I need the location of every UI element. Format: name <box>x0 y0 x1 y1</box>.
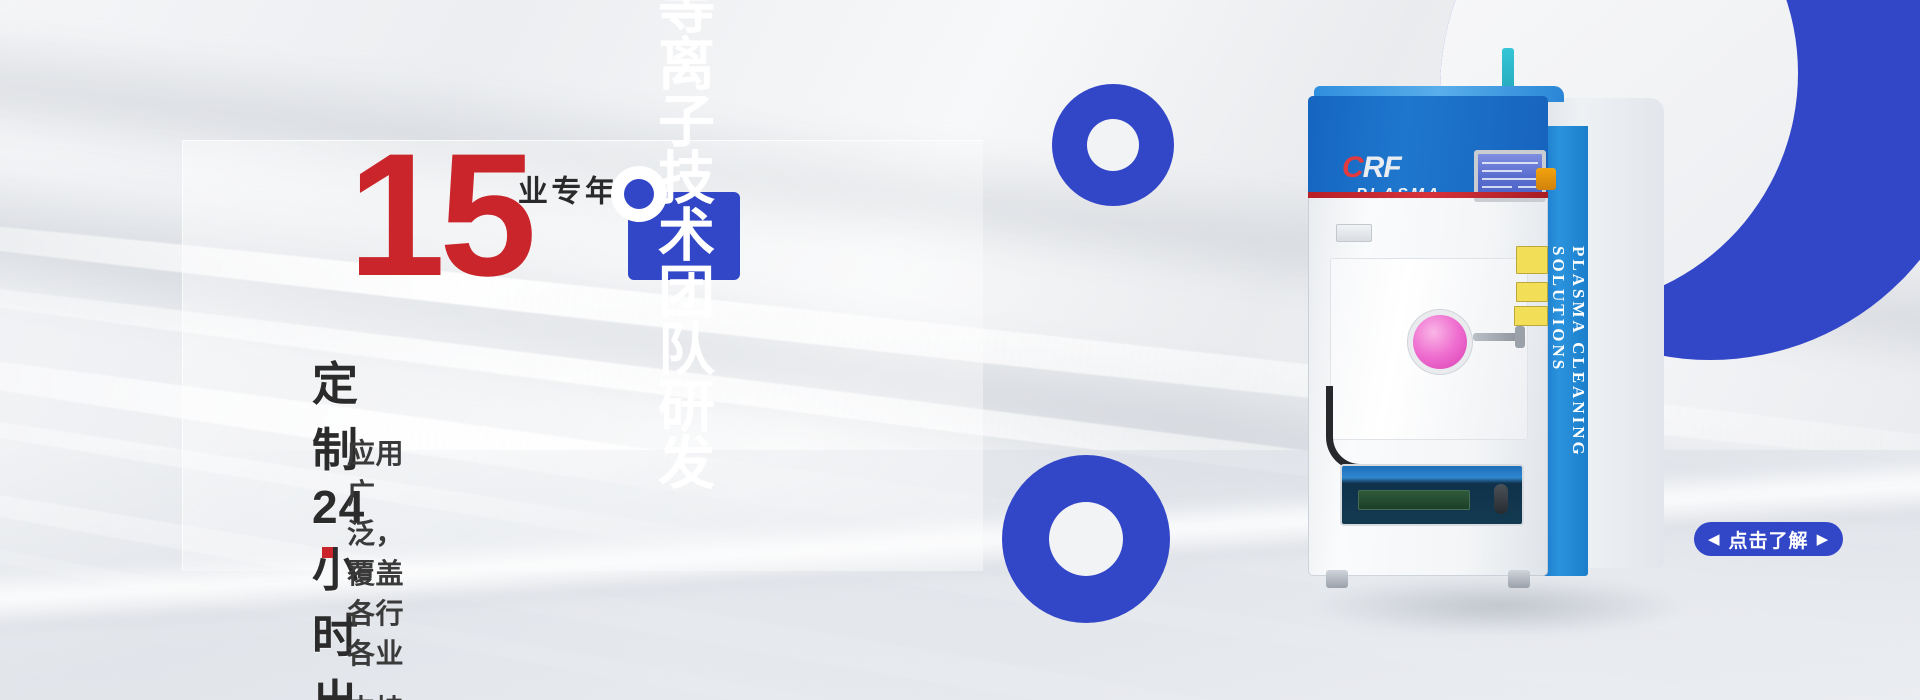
feature-bullet-list: 应用广泛，覆盖各行各业 支持定制，量大价优，快速发货 <box>322 432 404 700</box>
machine-ground-shadow <box>1310 576 1690 636</box>
click-to-learn-button[interactable]: ◀ 点击了解 ▶ <box>1694 522 1843 556</box>
machine-red-accent-line <box>1308 192 1548 198</box>
machine-leg-left <box>1326 570 1348 588</box>
machine-cable <box>1326 386 1389 471</box>
machine-logo-c: C <box>1342 151 1363 184</box>
machine-logo-rf: CRF <box>1342 151 1401 184</box>
arrow-left-icon: ◀ <box>1708 532 1721 547</box>
hero-banner: 15 年专业 等离子技术团队研发 定制24小时出方案 应用广泛，覆盖各行各业 支… <box>0 0 1920 700</box>
badge-plasma-rnd-label: 等离子技术团队研发 <box>658 0 716 493</box>
machine-led-display <box>1358 490 1470 510</box>
machine-door-handle <box>1473 333 1519 341</box>
machine-leg-right <box>1508 570 1530 588</box>
machine-warning-label-1 <box>1516 246 1548 274</box>
product-machine-illustration: PLASMA CLEANING SOLUTIONS <box>1300 56 1700 656</box>
machine-clamp-3 <box>1336 224 1372 242</box>
click-to-learn-label: 点击了解 <box>1729 526 1809 553</box>
decorative-ring-bottom <box>1002 455 1170 623</box>
years-vertical-label: 年专业 <box>577 175 613 208</box>
machine-viewport-icon <box>1413 315 1467 369</box>
bullet-square-icon <box>322 547 333 558</box>
feature-bullet-text: 支持定制，量大价优，快速发货 <box>347 688 404 700</box>
list-item: 应用广泛，覆盖各行各业 <box>322 432 404 672</box>
decorative-ring-top <box>1052 84 1174 206</box>
list-item: 支持定制，量大价优，快速发货 <box>322 688 404 700</box>
machine-emergency-stop-icon <box>1536 168 1556 190</box>
machine-logo-rf-text: RF <box>1363 151 1401 184</box>
machine-control-drawer <box>1340 464 1524 526</box>
machine-drawer-button <box>1494 484 1508 514</box>
years-number: 15 <box>348 128 531 303</box>
machine-warning-label-2 <box>1516 282 1548 302</box>
machine-header-panel: CRF PLASMA <box>1308 96 1548 192</box>
ring-dot-icon <box>611 166 667 222</box>
machine-warning-label-3 <box>1514 306 1548 326</box>
feature-bullet-text: 应用广泛，覆盖各行各业 <box>347 432 404 672</box>
arrow-right-icon: ▶ <box>1817 532 1830 547</box>
